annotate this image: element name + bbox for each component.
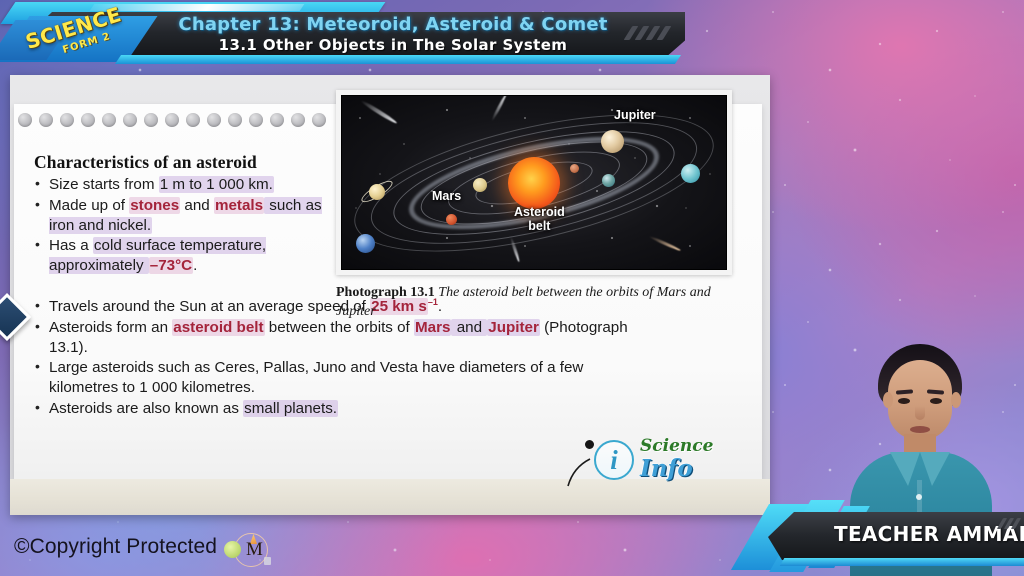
lower-third-cyan-underline [780,558,1024,566]
presenter-eye-right [930,398,942,404]
info-icon: i [594,440,634,480]
photograph-caption: Photograph 13.1 The asteroid belt betwee… [336,284,724,322]
bullet-text-part: Asteroids are also known as [49,400,243,417]
science-info-word-top: Science [640,436,713,456]
bullet-text-part: . [193,257,197,274]
header-banner: SCIENCE FORM 2 Chapter 13: Meteoroid, As… [0,0,700,70]
photo-label-asteroid-belt-line1: Asteroid [514,206,565,220]
presenter-mouth [910,426,930,433]
copyright-logo-letter: M [246,539,263,561]
solar-system-illustration: Jupiter Mars Asteroid belt [341,95,727,270]
presenter-nose [915,406,925,420]
bullet-text-part: Size starts from [49,176,159,193]
content-heading-wrap: Characteristics of an asteroid [34,152,334,177]
sun-icon [508,157,560,209]
lower-third-banner: TEACHER AMMAR [742,498,1024,576]
science-info-word-bottom: Info [640,455,693,482]
keyword-small-planets: small planets. [243,400,338,417]
list-item: Size starts from 1 m to 1 000 km. [34,175,336,195]
bullet-text-part: Made up of [49,197,129,214]
keyword-metals: metals [214,197,264,214]
list-item: Made up of stones and metals such as iro… [34,196,336,236]
bullet-text-part: Has a [49,237,93,254]
header-cyan-accent-bottom [115,55,681,64]
chapter-title: Chapter 13: Meteoroid, Asteroid & Comet [163,14,623,35]
copyright-notice: ©Copyright Protected [14,535,217,559]
page-perforation-dots [18,112,338,128]
header-white-streak [90,4,305,11]
jupiter-planet-icon [601,130,624,153]
keyword-stones: stones [129,197,180,214]
keyword-asteroid-belt: asteroid belt [172,319,264,336]
slide-stage: SCIENCE FORM 2 Chapter 13: Meteoroid, As… [0,0,1024,576]
copyright-logo-blob [224,541,241,558]
photograph-frame: Jupiter Mars Asteroid belt [336,90,732,275]
photo-label-mars: Mars [432,189,461,203]
mars-planet-icon [446,214,457,225]
list-item: Has a cold surface temperature, approxim… [34,236,336,276]
saturn-planet-icon [369,184,385,200]
presenter-ear-left [883,392,893,408]
lower-third-slash-decoration [1000,518,1024,529]
photo-label-asteroid-belt-line2: belt [514,220,565,234]
teacher-name-label: TEACHER AMMAR [834,522,1024,546]
photo-label-jupiter: Jupiter [614,108,656,122]
characteristics-heading: Characteristics of an asteroid [34,152,334,173]
list-item: Asteroids form an asteroid belt between … [34,318,634,358]
caption-label: Photograph 13.1 [336,285,435,300]
keyword-temperature: –73°C [149,257,193,274]
list-item: Asteroids are also known as small planet… [34,399,634,419]
presenter-eye-left [898,398,910,404]
bullet-text-part: Large asteroids such as Ceres, Pallas, J… [49,359,583,396]
section-title: 13.1 Other Objects in The Solar System [163,36,623,54]
list-item: Large asteroids such as Ceres, Pallas, J… [34,358,634,398]
bullet-text-part: Travels around the Sun at an average spe… [49,298,370,315]
science-info-badge: i Science Info [566,428,726,490]
venus-planet-icon [473,178,487,192]
presenter-ear-right [951,392,961,408]
copyright-logo: M [222,530,276,570]
bullet-text-highlight: 1 m to 1 000 km. [159,176,274,193]
header-slash-decoration [628,26,680,40]
bullet-text-part: Asteroids form an [49,319,172,336]
pointer-dot-icon [585,440,594,449]
copyright-logo-mark [264,557,271,565]
bullet-text-part: and [180,197,214,214]
earth-planet-icon [602,174,615,187]
mercury-planet-icon [570,164,579,173]
neptune-planet-icon [356,234,375,253]
bullet-list-narrow: Size starts from 1 m to 1 000 km. Made u… [34,175,336,277]
photo-label-asteroid-belt: Asteroid belt [514,206,565,233]
uranus-planet-icon [681,164,700,183]
